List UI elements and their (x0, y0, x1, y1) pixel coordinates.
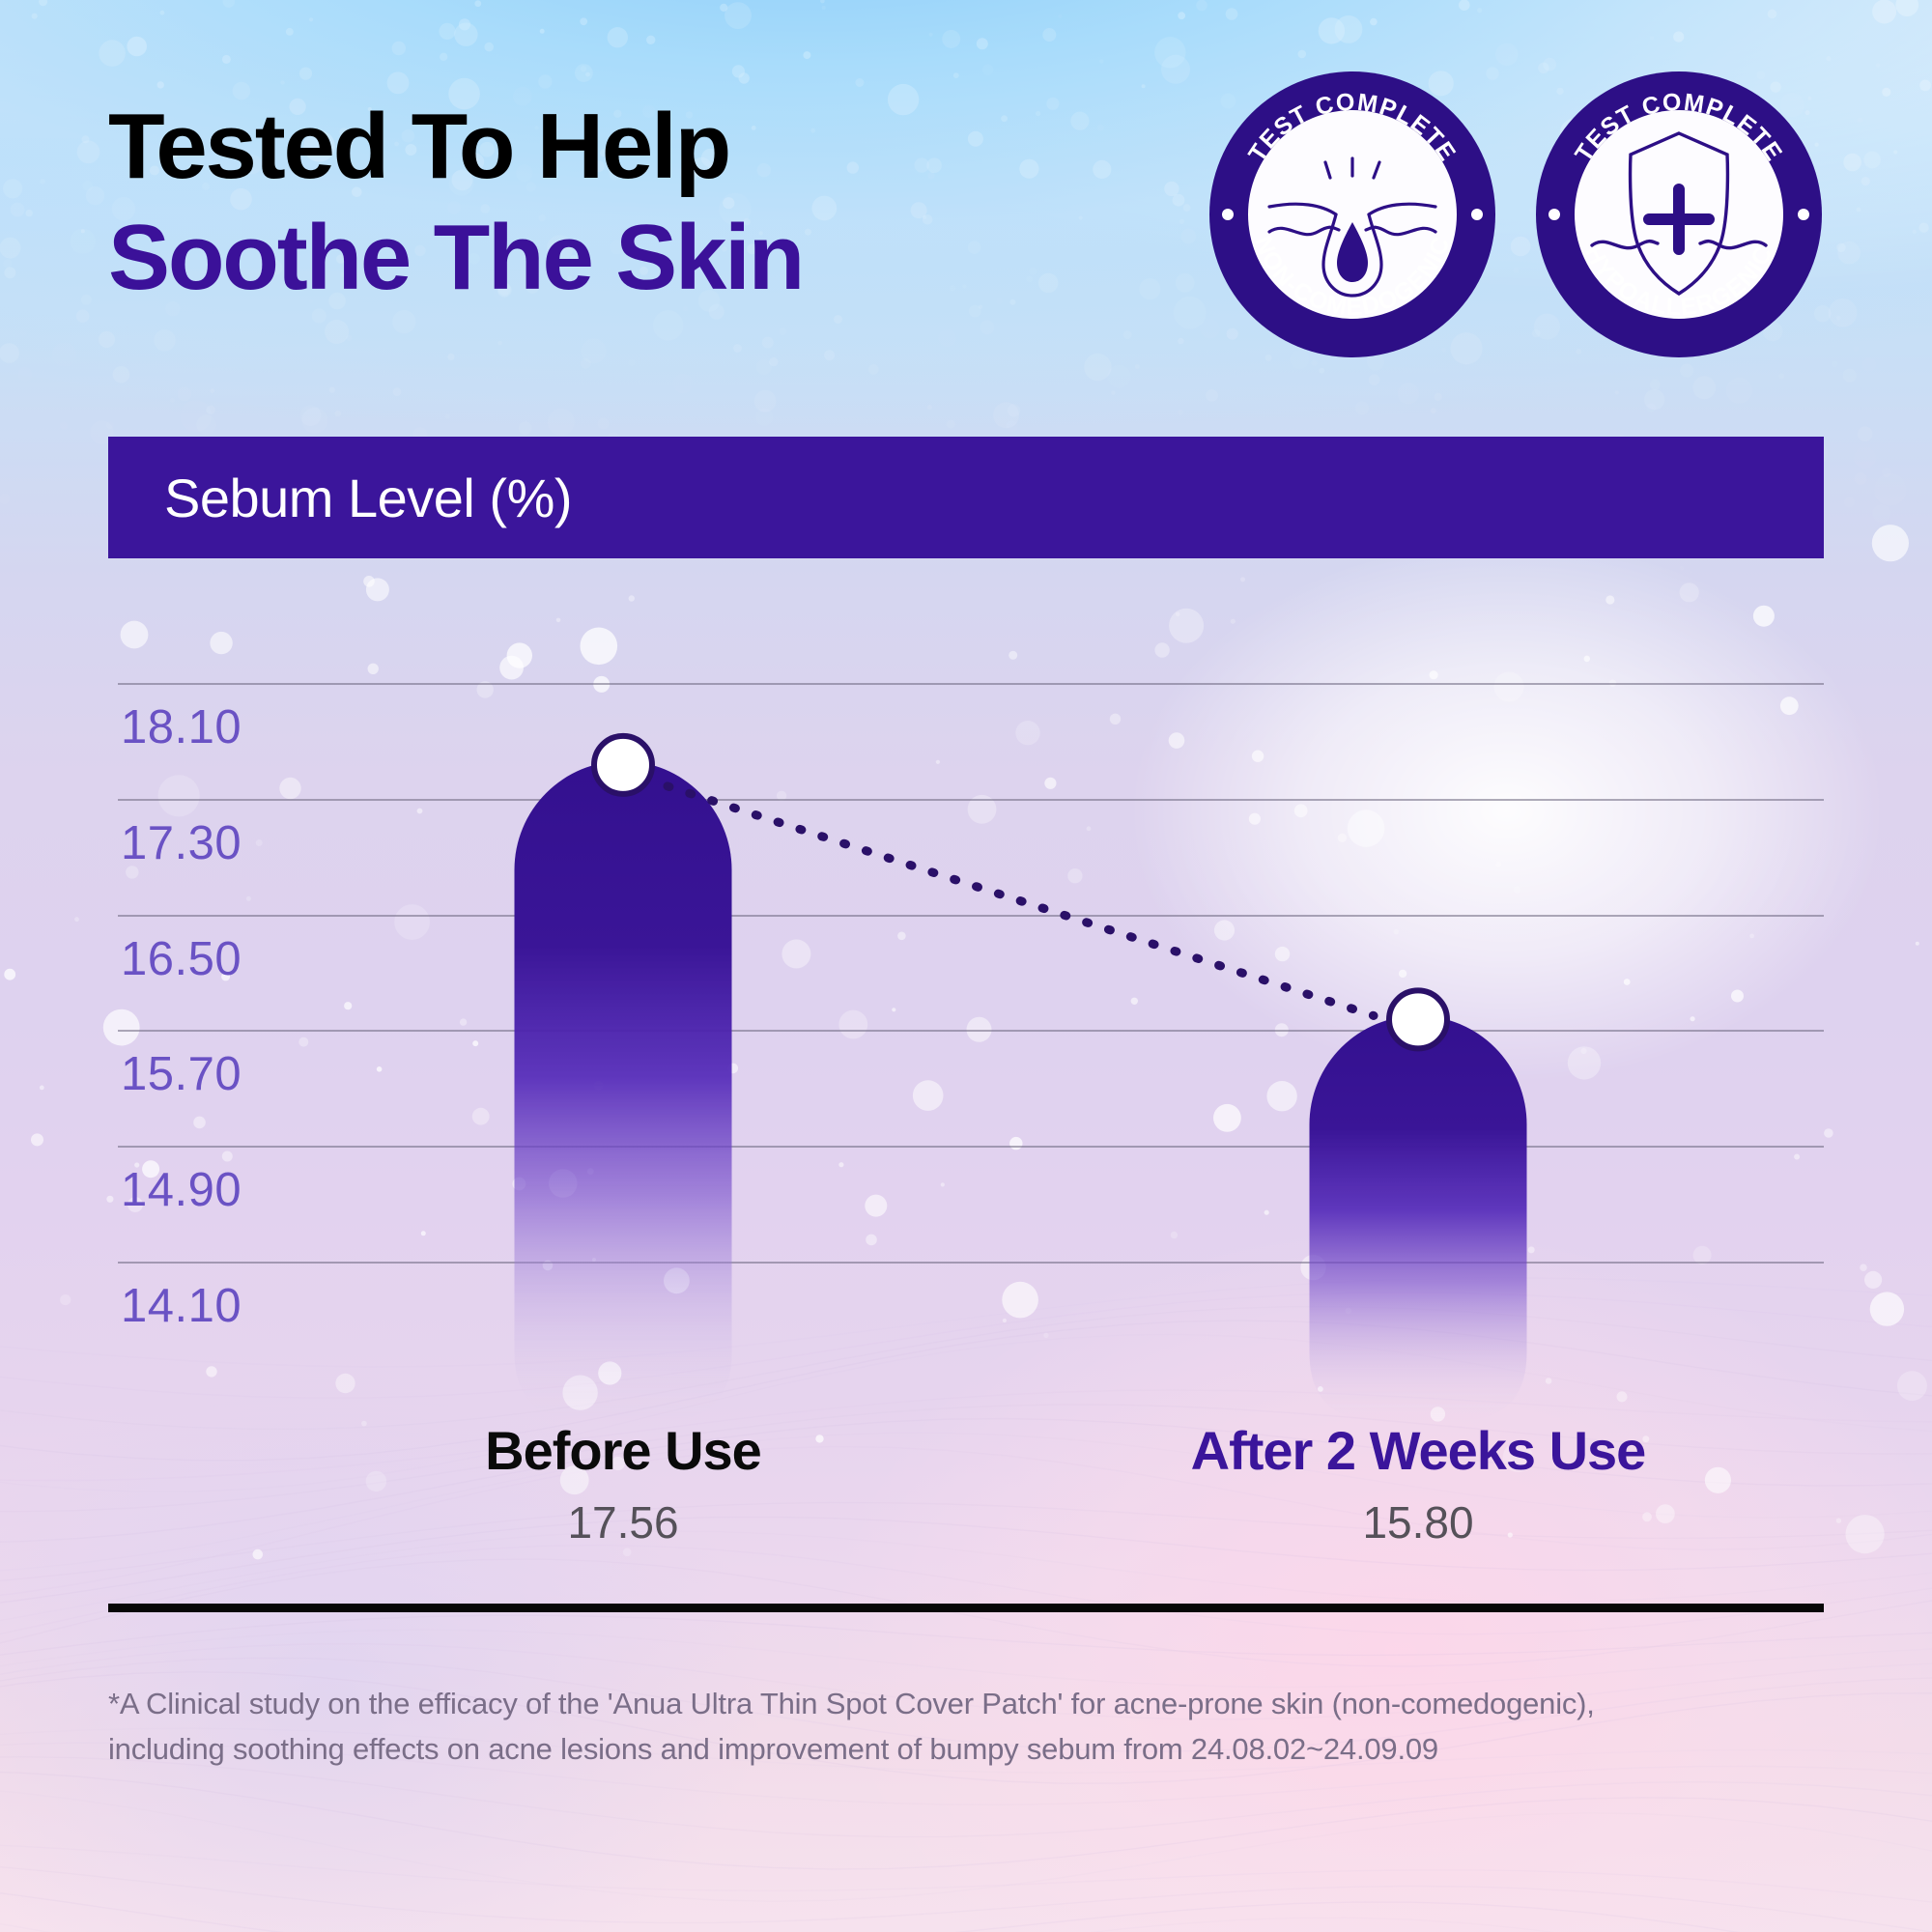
chart-connector-line (668, 786, 1374, 1016)
x-category-label: After 2 Weeks Use (1012, 1420, 1824, 1482)
x-category-group-before: Before Use 17.56 (217, 1420, 1029, 1551)
x-category-value: 17.56 (217, 1493, 1029, 1551)
hypoallergenic-badge: TEST COMPLETE HYPOALLERGENIC (1534, 70, 1824, 359)
certification-badges: TEST COMPLETE NON-COMEDOGENIC (1207, 70, 1824, 359)
chart-data-point-marker (1389, 990, 1447, 1048)
x-category-label: Before Use (217, 1420, 1029, 1482)
title-line-2: Soothe The Skin (108, 210, 803, 306)
chart-data-point-marker (594, 736, 652, 794)
page-title: Tested To Help Soothe The Skin (108, 100, 803, 306)
x-category-group-after: After 2 Weeks Use 15.80 (1012, 1420, 1824, 1551)
non-comedogenic-badge: TEST COMPLETE NON-COMEDOGENIC (1207, 70, 1497, 359)
footnote-divider (108, 1604, 1824, 1612)
chart-x-axis-labels: Before Use 17.56 After 2 Weeks Use 15.80 (0, 1420, 1932, 1613)
x-category-value: 15.80 (1012, 1493, 1824, 1551)
chart-bar (1310, 1015, 1527, 1420)
metric-title-label: Sebum Level (%) (164, 467, 572, 529)
metric-title-bar: Sebum Level (%) (108, 437, 1824, 558)
chart-bars-and-connector (0, 599, 1932, 1526)
footnote-text: *A Clinical study on the efficacy of the… (108, 1681, 1615, 1772)
title-line-1: Tested To Help (108, 100, 803, 192)
sebum-level-chart: 18.1017.3016.5015.7014.9014.10 (0, 599, 1932, 1526)
chart-bar (515, 761, 732, 1420)
poster-root: Tested To Help Soothe The Skin TEST COMP… (0, 0, 1932, 1932)
